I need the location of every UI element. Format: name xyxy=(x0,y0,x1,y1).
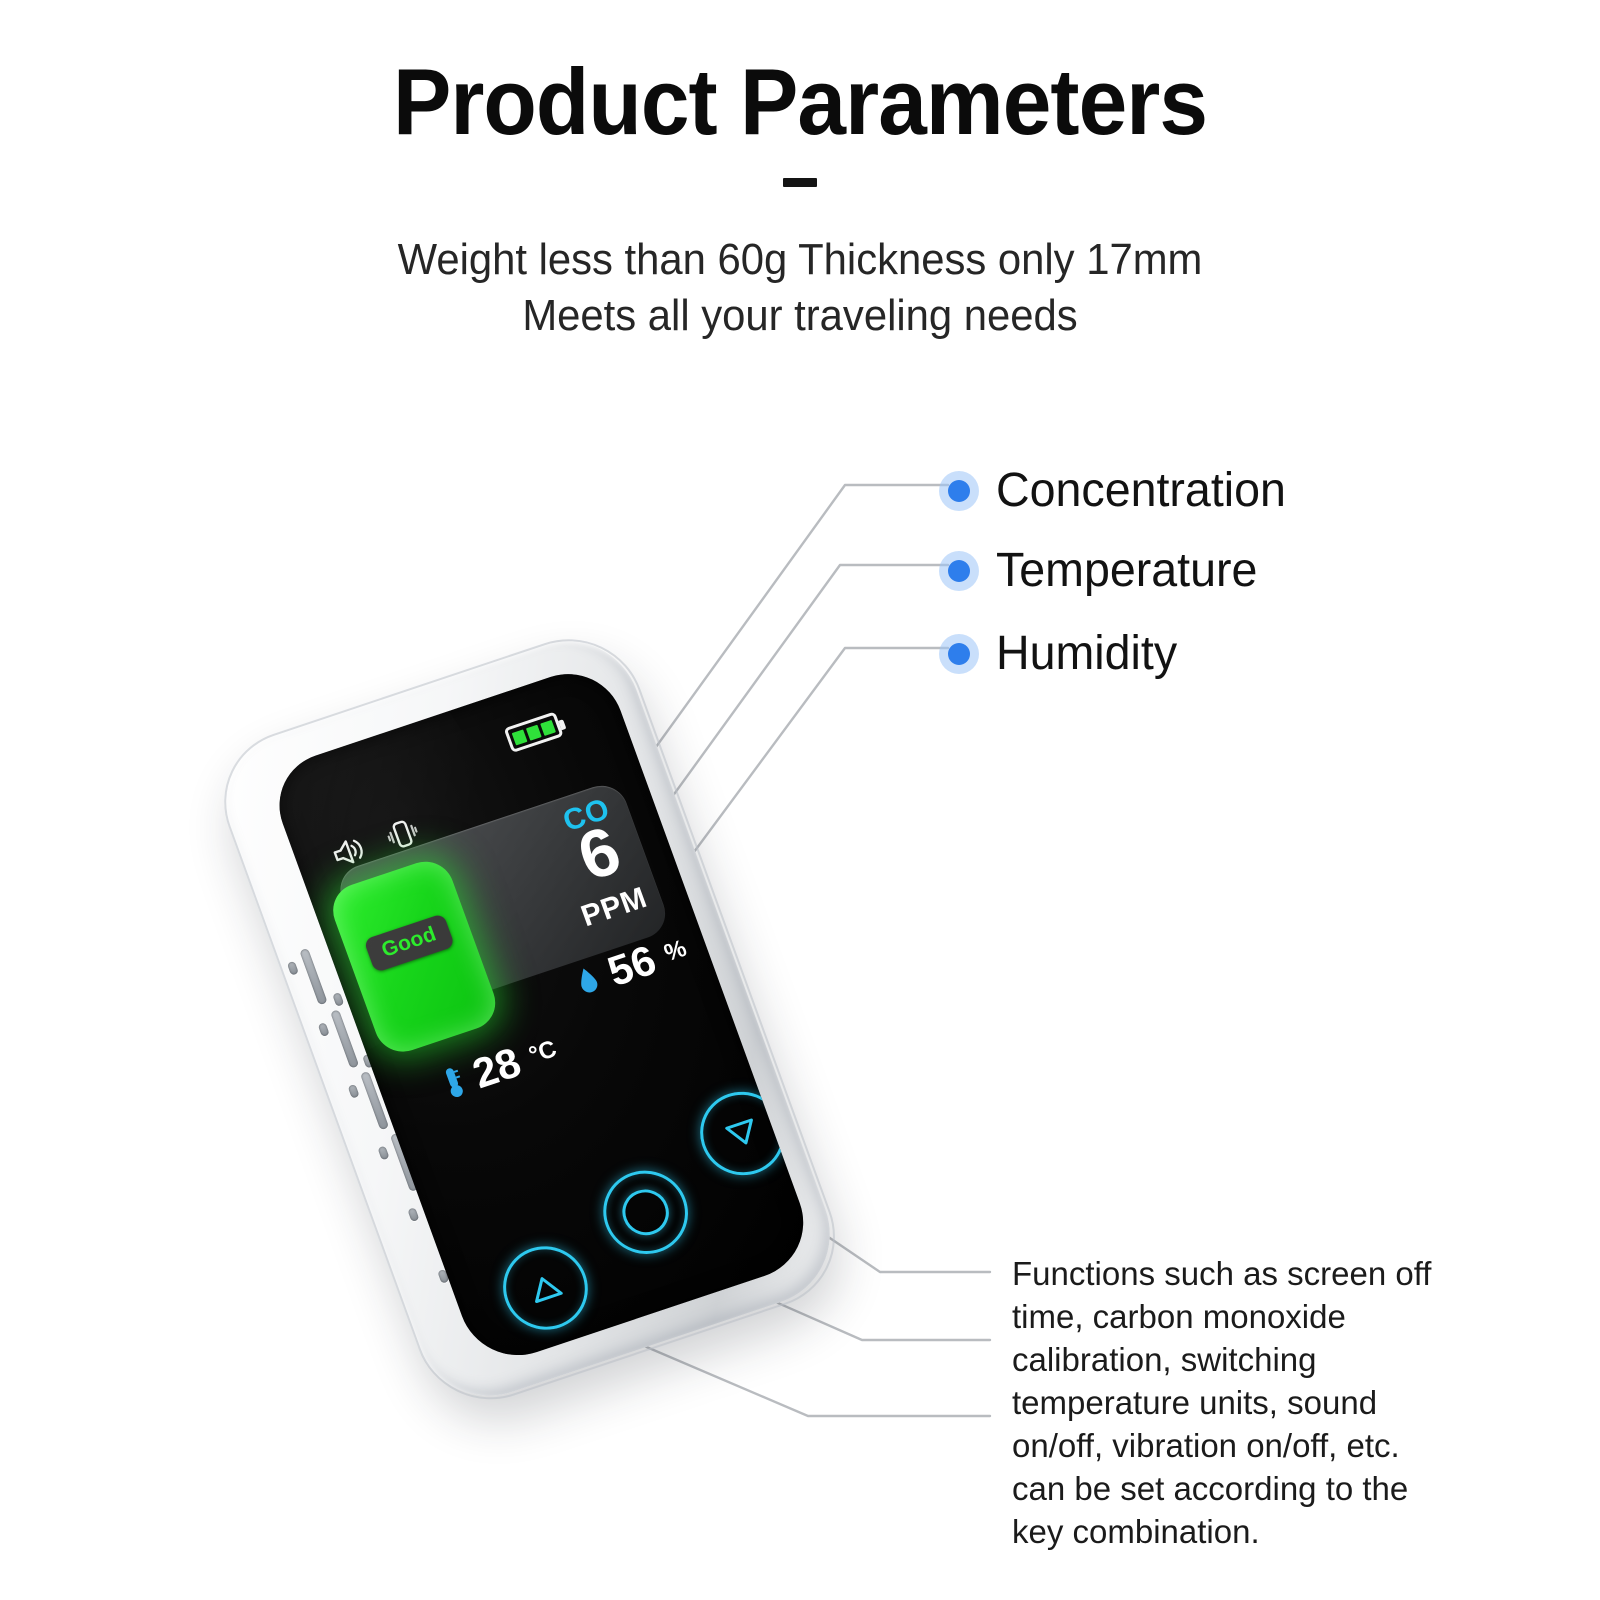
power-button[interactable] xyxy=(591,1160,699,1266)
gas-unit: PPM xyxy=(577,881,652,934)
up-button[interactable] xyxy=(491,1235,599,1341)
subtitle-line-1: Weight less than 60g Thickness only 17mm xyxy=(40,232,1560,288)
battery-icon xyxy=(504,711,564,753)
feature-description: Functions such as screen off time, carbo… xyxy=(1012,1252,1452,1553)
infographic-canvas: Product Parameters Weight less than 60g … xyxy=(0,0,1600,1600)
gas-value: 6 xyxy=(571,819,628,889)
callout-dot-icon xyxy=(948,560,970,582)
callout-label: Temperature xyxy=(996,543,1257,598)
thermometer-icon xyxy=(438,1063,469,1101)
page-title: Product Parameters xyxy=(56,48,1544,156)
device-illustration: Good CO 6 PPM 28 °C xyxy=(192,628,872,1468)
callout-dot-icon xyxy=(948,643,970,665)
callout-label: Concentration xyxy=(996,463,1286,518)
circle-icon xyxy=(616,1183,675,1241)
temperature-value: 28 xyxy=(466,1038,527,1098)
callout-temperature: Temperature xyxy=(948,543,1265,598)
callout-label: Humidity xyxy=(996,626,1177,681)
temperature-unit: °C xyxy=(525,1035,560,1070)
temperature-reading: 28 °C xyxy=(436,1026,564,1108)
water-drop-icon xyxy=(572,963,603,998)
co-detector-device: Good CO 6 PPM 28 °C xyxy=(203,621,850,1415)
callout-humidity: Humidity xyxy=(948,626,1183,681)
callout-dot-icon xyxy=(948,480,970,502)
page-subtitle: Weight less than 60g Thickness only 17mm… xyxy=(40,232,1560,344)
title-divider xyxy=(783,178,817,187)
subtitle-line-2: Meets all your traveling needs xyxy=(40,288,1560,344)
callout-concentration: Concentration xyxy=(948,463,1295,518)
triangle-down-icon xyxy=(721,1114,764,1153)
humidity-unit: % xyxy=(661,935,691,968)
triangle-up-icon xyxy=(524,1269,567,1308)
